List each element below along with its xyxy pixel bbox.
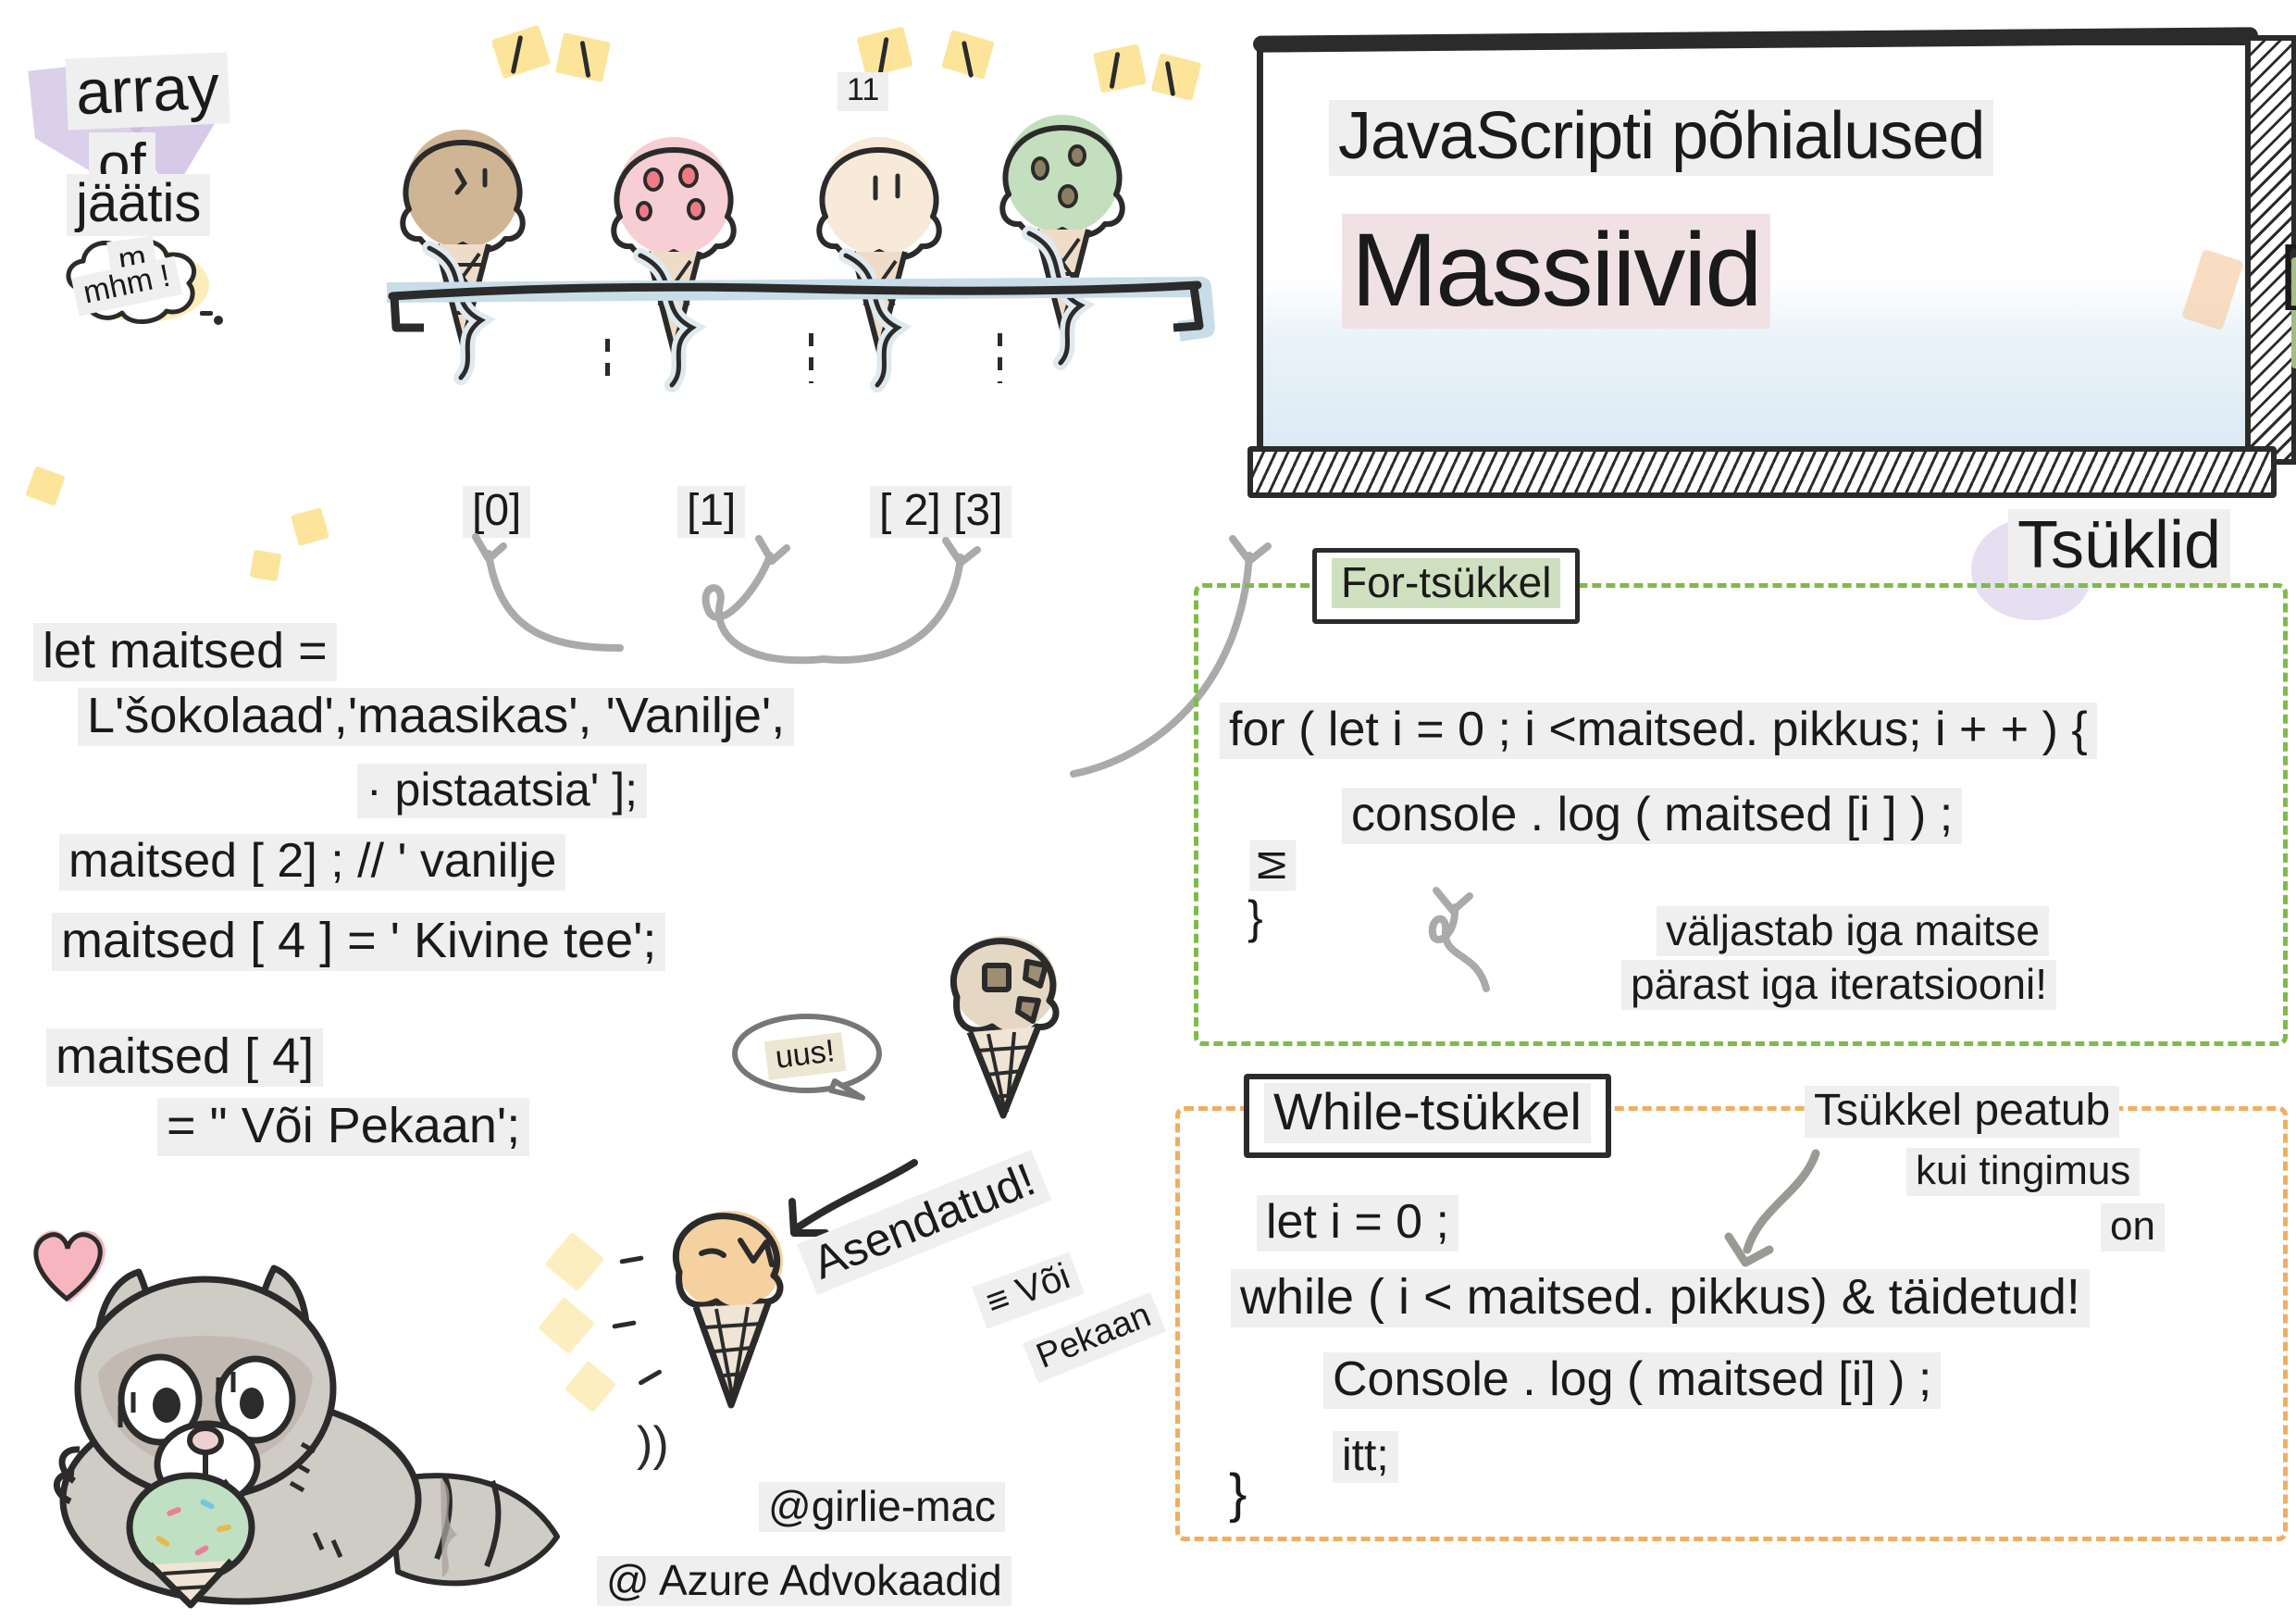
for-loop-line-1: for ( let i = 0 ; i <maitsed. pikkus; i … bbox=[1220, 702, 2097, 759]
for-loop-line-2: console . log ( maitsed [i ] ) ; bbox=[1342, 787, 1962, 844]
for-loop-note-line-1-text: väljastab iga maitse bbox=[1657, 906, 2049, 956]
code-line-declaration: let maitsed = bbox=[33, 622, 337, 681]
code-line-array-values-2-text: · pistaatsia' ]; bbox=[357, 764, 647, 818]
label-voi: ≡ Või bbox=[972, 1252, 1085, 1329]
while-loop-note-line-2: kui tingimus bbox=[1906, 1148, 2140, 1196]
code-line-declaration-text: let maitsed = bbox=[33, 623, 337, 681]
array-shelf bbox=[387, 270, 1220, 331]
while-loop-line-1-text: let i = 0 ; bbox=[1257, 1195, 1458, 1252]
doodle-parens: )) bbox=[637, 1416, 669, 1472]
label-array-text: array bbox=[65, 52, 230, 131]
while-loop-line-2: while ( i < maitsed. pikkus) & täidetud! bbox=[1231, 1268, 2090, 1327]
while-loop-tag-text: While-tsükkel bbox=[1264, 1083, 1591, 1143]
for-loop-tag-text: For-tsükkel bbox=[1332, 558, 1560, 608]
for-loop-note-line-2: pärast iga iteratsiooni! bbox=[1621, 959, 2056, 1010]
for-loop-line-2-text: console . log ( maitsed [i ] ) ; bbox=[1342, 788, 1962, 844]
code-line-assign-index-4-text: maitsed [ 4 ] = ' Kivine tee'; bbox=[52, 913, 665, 971]
for-loop-closing-brace: } bbox=[1247, 890, 1263, 944]
while-loop-line-4-text: itt; bbox=[1333, 1431, 1398, 1483]
for-loop-note-line-1: väljastab iga maitse bbox=[1657, 905, 2049, 956]
pointer-arrow-1 bbox=[611, 528, 842, 666]
while-loop-note-line-3: on bbox=[2101, 1203, 2165, 1252]
section-heading-tsuklid-text: Tsüklid bbox=[2008, 509, 2230, 585]
code-line-access-index-2: maitsed [ 2] ; // ' vanilje bbox=[59, 833, 565, 890]
board-bottom-ledge bbox=[1247, 446, 2277, 498]
for-loop-line-1-text: for ( let i = 0 ; i <maitsed. pikkus; i … bbox=[1220, 703, 2097, 759]
raccoon-illustration bbox=[9, 1203, 583, 1611]
code-line-index-4-text: maitsed [ 4] bbox=[46, 1028, 323, 1087]
bracket-open: [ bbox=[2280, 231, 2296, 312]
page-title: Massiivid bbox=[1342, 210, 1770, 330]
for-note-arrow bbox=[1379, 879, 1508, 1009]
code-line-assign-index-4: maitsed [ 4 ] = ' Kivine tee'; bbox=[52, 912, 665, 971]
page-title-text: Massiivid bbox=[1342, 214, 1770, 329]
label-voi-text: ≡ Või bbox=[972, 1252, 1085, 1329]
handle-girlie-mac: @girlie-mac bbox=[759, 1481, 1005, 1532]
while-loop-closing-brace: } bbox=[1229, 1463, 1247, 1525]
code-line-access-index-2-text: maitsed [ 2] ; // ' vanilje bbox=[59, 834, 565, 890]
label-jaatis-text: jäätis bbox=[67, 174, 210, 236]
code-line-reassign-value: = " Või Pekaan'; bbox=[157, 1097, 529, 1156]
while-loop-line-1: let i = 0 ; bbox=[1257, 1194, 1458, 1252]
index-tick bbox=[809, 333, 813, 383]
index-tick bbox=[605, 339, 610, 387]
code-line-array-values-1: L'šokolaad','maasikas', 'Vanilje', bbox=[78, 687, 794, 746]
handle-azure-advokaadid: @ Azure Advokaadid bbox=[597, 1555, 1011, 1606]
code-line-reassign-value-text: = " Või Pekaan'; bbox=[157, 1098, 529, 1156]
while-loop-note-line-1-text: Tsükkel peatub bbox=[1805, 1086, 2119, 1138]
while-loop-tag: While-tsükkel bbox=[1244, 1074, 1611, 1158]
code-line-array-values-2: · pistaatsia' ]; bbox=[357, 763, 647, 818]
page-subtitle: JavaScripti põhialused bbox=[1329, 98, 1993, 176]
for-loop-brace-mark-text: M bbox=[1249, 841, 1296, 891]
while-loop-note-line-1: Tsükkel peatub bbox=[1805, 1085, 2119, 1138]
while-loop-line-4: itt; bbox=[1333, 1430, 1398, 1483]
page-subtitle-text: JavaScripti põhialused bbox=[1329, 100, 1993, 176]
while-loop-line-3-text: Console . log ( maitsed [i] ) ; bbox=[1323, 1352, 1941, 1409]
icecream-cone-flying bbox=[916, 930, 1083, 1125]
confetti-flake bbox=[291, 507, 329, 546]
label-array: array bbox=[65, 50, 230, 131]
while-loop-note-line-2-text: kui tingimus bbox=[1906, 1148, 2140, 1196]
motion-dash bbox=[612, 1320, 636, 1328]
confetti-flake bbox=[25, 466, 66, 506]
handle-girlie-mac-text: @girlie-mac bbox=[759, 1482, 1005, 1532]
pointer-arrow-0 bbox=[435, 528, 639, 657]
while-note-arrow bbox=[1703, 1146, 1851, 1285]
while-loop-note-line-3-text: on bbox=[2101, 1203, 2165, 1252]
code-line-array-values-1-text: L'šokolaad','maasikas', 'Vanilje', bbox=[78, 688, 794, 746]
handle-azure-advokaadid-text: @ Azure Advokaadid bbox=[597, 1556, 1011, 1606]
index-tick bbox=[998, 333, 1002, 383]
pointer-arrow-2 bbox=[814, 528, 1027, 666]
confetti-flake bbox=[250, 550, 282, 582]
label-jaatis: jäätis bbox=[67, 172, 210, 236]
for-loop-brace-mark: M bbox=[1249, 841, 1296, 891]
code-line-index-4: maitsed [ 4] bbox=[46, 1027, 323, 1087]
for-loop-note-line-2-text: pärast iga iteratsiooni! bbox=[1621, 960, 2056, 1010]
while-loop-line-2-text: while ( i < maitsed. pikkus) & täidetud! bbox=[1231, 1269, 2090, 1327]
title-board: JavaScripti põhialused Massiivid [ Tsükl… bbox=[1257, 39, 2254, 455]
while-loop-line-3: Console . log ( maitsed [i] ) ; bbox=[1323, 1351, 1941, 1409]
for-loop-tag: For-tsükkel bbox=[1312, 548, 1580, 624]
section-heading-tsuklid: Tsüklid bbox=[2008, 507, 2230, 585]
